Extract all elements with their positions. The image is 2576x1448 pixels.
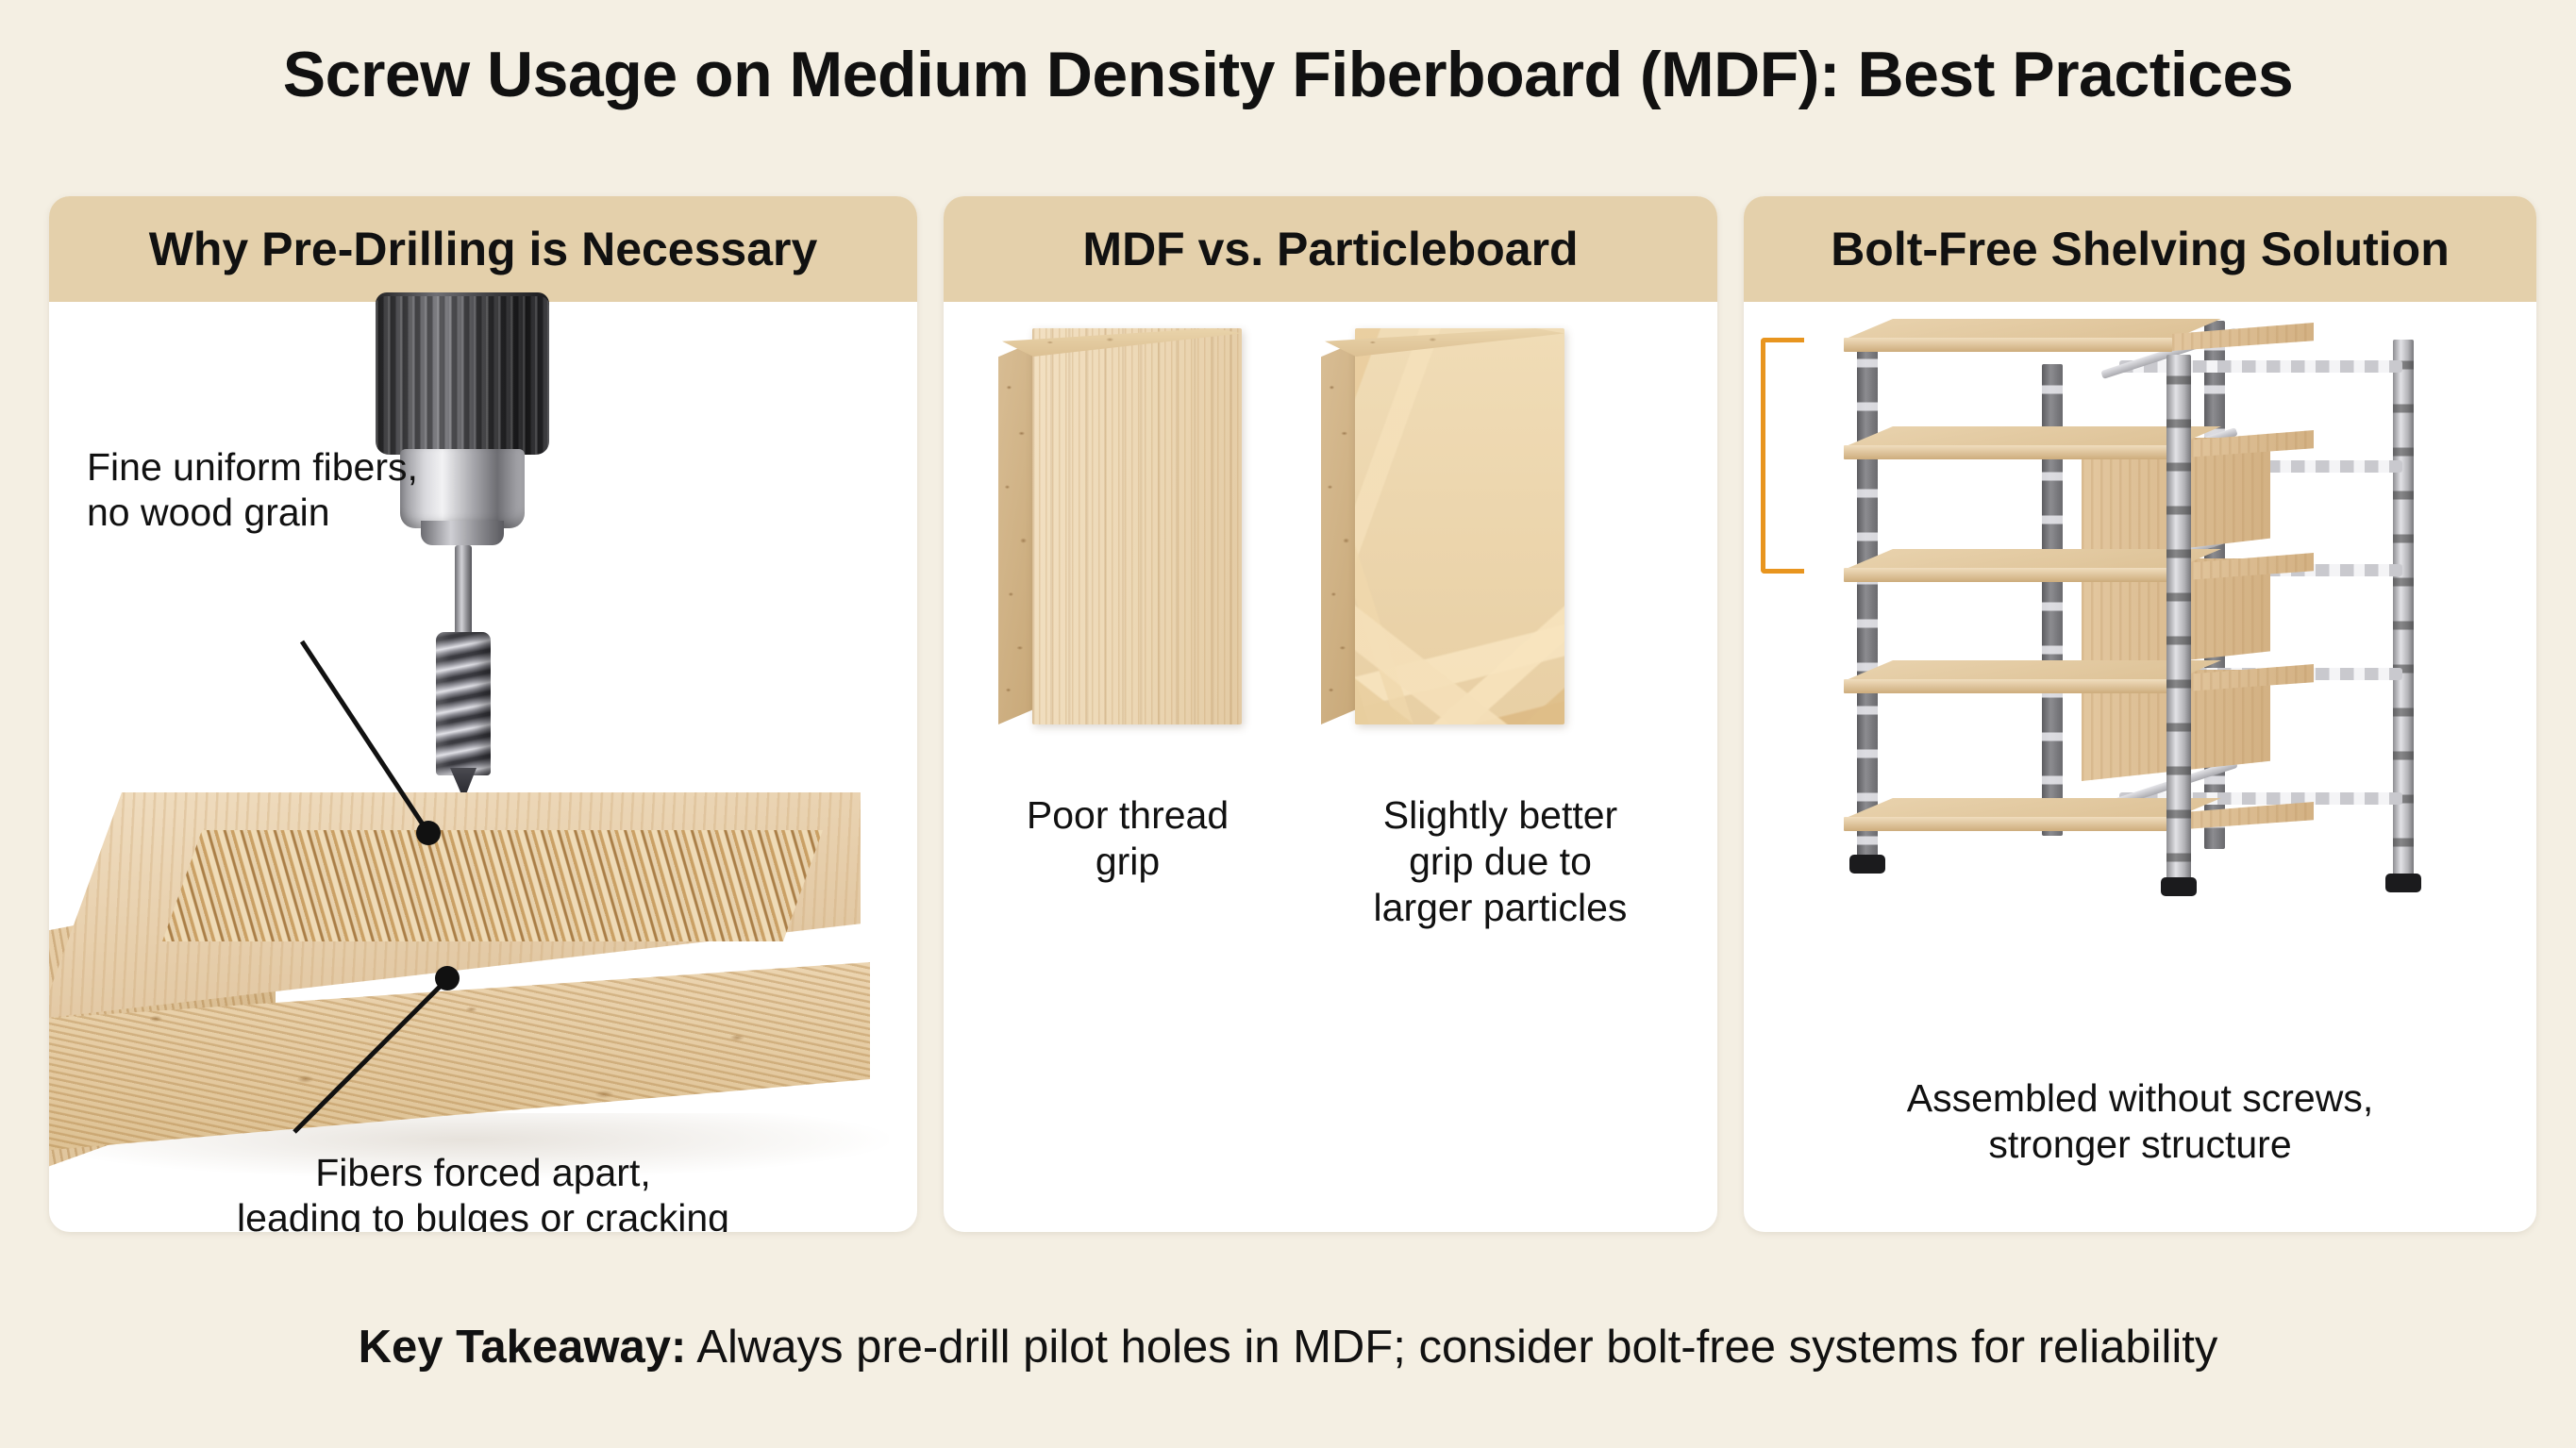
drill-screw-illustration (49, 302, 917, 1232)
particleboard-sample-block (1321, 328, 1564, 724)
card-mdf-vs-particleboard: MDF vs. Particleboard Poor thread grip S… (944, 196, 1717, 1232)
card-3-header-label: Bolt-Free Shelving Solution (1831, 222, 2450, 276)
card-1-header-label: Why Pre-Drilling is Necessary (149, 222, 818, 276)
boltless-shelving-rack (1798, 311, 2459, 1028)
rack-foot-front (2161, 877, 2197, 896)
card-why-pre-drilling: Why Pre-Drilling is Necessary (49, 196, 917, 1232)
rack-post-left (1857, 338, 1878, 858)
card-bolt-free-shelving: Bolt-Free Shelving Solution (1744, 196, 2536, 1232)
card-3-header: Bolt-Free Shelving Solution (1744, 196, 2536, 302)
key-takeaway-footer: Key Takeaway: Always pre-drill pilot hol… (0, 1321, 2576, 1373)
particleboard-sample-caption: Slightly better grip due to larger parti… (1302, 792, 1698, 932)
rack-post-front (2166, 355, 2191, 883)
card-2-header-label: MDF vs. Particleboard (1082, 222, 1578, 276)
torn-fiber-groove (162, 830, 823, 941)
card-3-body: Assembled without screws, stronger struc… (1744, 302, 2536, 1232)
card-2-body: Poor thread grip Slightly better grip du… (944, 302, 1717, 1232)
mdf-sample-caption: Poor thread grip (972, 792, 1283, 885)
card-2-header: MDF vs. Particleboard (944, 196, 1717, 302)
key-takeaway-text: Always pre-drill pilot holes in MDF; con… (686, 1322, 2217, 1373)
screw-bit-icon (432, 545, 494, 802)
rack-foot-left (1849, 855, 1885, 874)
card-1-header: Why Pre-Drilling is Necessary (49, 196, 917, 302)
shelving-caption: Assembled without screws, stronger struc… (1763, 1075, 2517, 1168)
rack-foot-rear-right (2385, 874, 2421, 892)
key-takeaway-label: Key Takeaway: (359, 1322, 687, 1373)
infographic-page: Screw Usage on Medium Density Fiberboard… (0, 0, 2576, 1448)
card-1-body: Fine uniform fibers, no wood grain Fiber… (49, 302, 917, 1232)
board-samples-illustration (944, 302, 1717, 1232)
mdf-sample-block (998, 328, 1242, 724)
wire-rail-1 (2119, 360, 2402, 373)
page-title: Screw Usage on Medium Density Fiberboard… (0, 38, 2576, 111)
fine-fibers-note: Fine uniform fibers, no wood grain (87, 445, 418, 536)
fibers-forced-apart-note: Fibers forced apart, leading to bulges o… (87, 1151, 879, 1232)
